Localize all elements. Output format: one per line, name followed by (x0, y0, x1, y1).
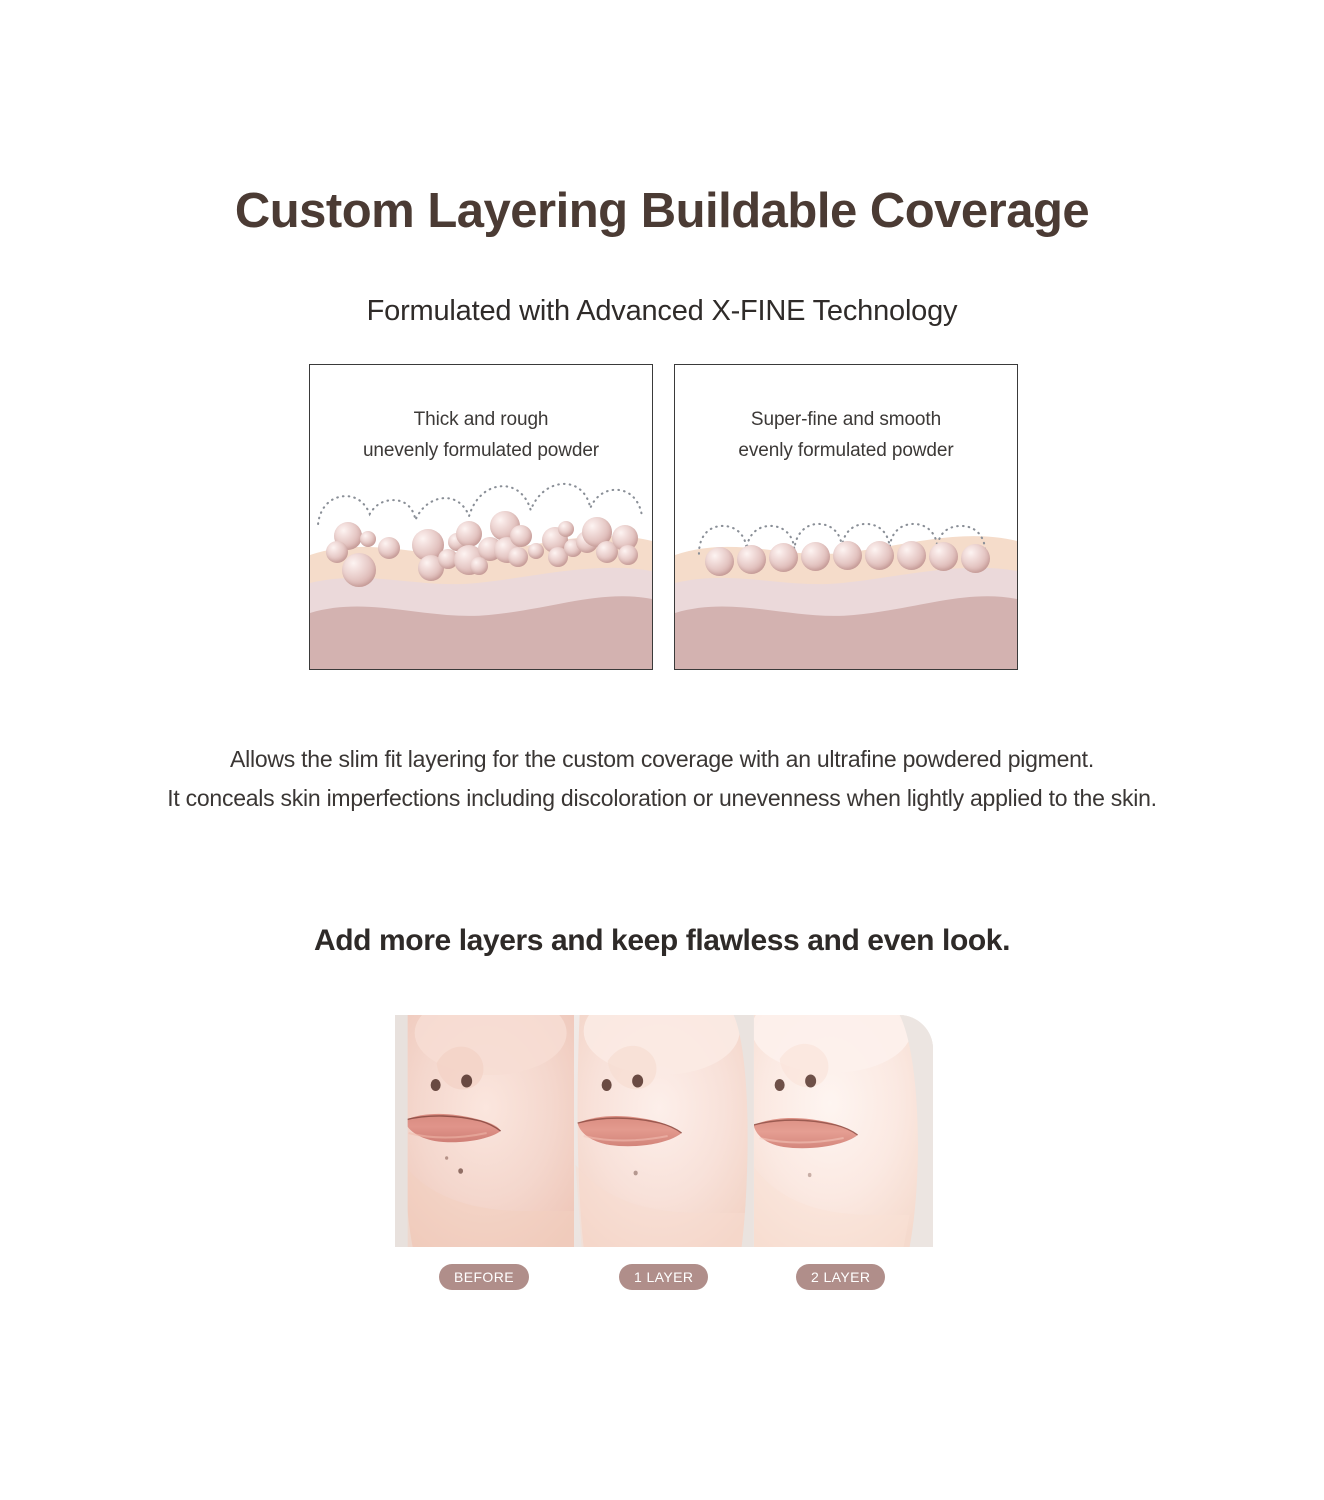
description-line-2: It conceals skin imperfections including… (0, 779, 1324, 818)
powder-bead (618, 545, 638, 565)
powder-bead (961, 544, 990, 573)
badge-before: BEFORE (439, 1264, 529, 1290)
powder-bead (470, 557, 488, 575)
panel-super-fine-smooth: Super-fine and smooth evenly formulated … (674, 364, 1018, 670)
description-paragraph: Allows the slim fit layering for the cus… (0, 740, 1324, 817)
powder-bead (360, 531, 376, 547)
page-title: Custom Layering Buildable Coverage (0, 183, 1324, 239)
face-closeup-two-layer-image (754, 1015, 933, 1247)
caption-line-1: Super-fine and smooth (675, 405, 1017, 436)
photo-one-layer (574, 1015, 753, 1247)
badge-1-layer: 1 LAYER (619, 1264, 708, 1290)
caption-line-1: Thick and rough (310, 405, 652, 436)
photo-two-layer (754, 1015, 933, 1247)
powder-bead (528, 543, 544, 559)
face-closeup-before-image (395, 1015, 574, 1247)
powder-comparison-diagram: Thick and rough unevenly formulated powd… (309, 364, 1018, 670)
caption-line-2: evenly formulated powder (675, 436, 1017, 467)
layering-photo-captions: BEFORE 1 LAYER 2 LAYER (395, 1264, 933, 1292)
powder-bead (801, 542, 830, 571)
panel-thick-rough-caption: Thick and rough unevenly formulated powd… (310, 405, 652, 467)
powder-bead (558, 521, 574, 537)
powder-bead (897, 541, 926, 570)
panel-super-fine-caption: Super-fine and smooth evenly formulated … (675, 405, 1017, 467)
powder-bead (378, 537, 400, 559)
powder-bead (865, 541, 894, 570)
badge-2-layer: 2 LAYER (796, 1264, 885, 1290)
powder-bead (510, 525, 532, 547)
subtitle: Formulated with Advanced X-FINE Technolo… (0, 295, 1324, 328)
photo-before (395, 1015, 574, 1247)
powder-bead (705, 547, 734, 576)
powder-bead (737, 545, 766, 574)
powder-bead (833, 541, 862, 570)
panel-thick-rough: Thick and rough unevenly formulated powd… (309, 364, 653, 670)
powder-bead (508, 547, 528, 567)
caption-line-2: unevenly formulated powder (310, 436, 652, 467)
product-detail-page: Custom Layering Buildable Coverage Formu… (0, 0, 1324, 1500)
layering-section-heading: Add more layers and keep flawless and ev… (0, 924, 1324, 958)
description-line-1: Allows the slim fit layering for the cus… (0, 740, 1324, 779)
powder-bead (342, 553, 376, 587)
face-closeup-one-layer-image (574, 1015, 753, 1247)
powder-bead (769, 543, 798, 572)
powder-bead (929, 542, 958, 571)
layering-photo-strip (395, 1015, 933, 1247)
